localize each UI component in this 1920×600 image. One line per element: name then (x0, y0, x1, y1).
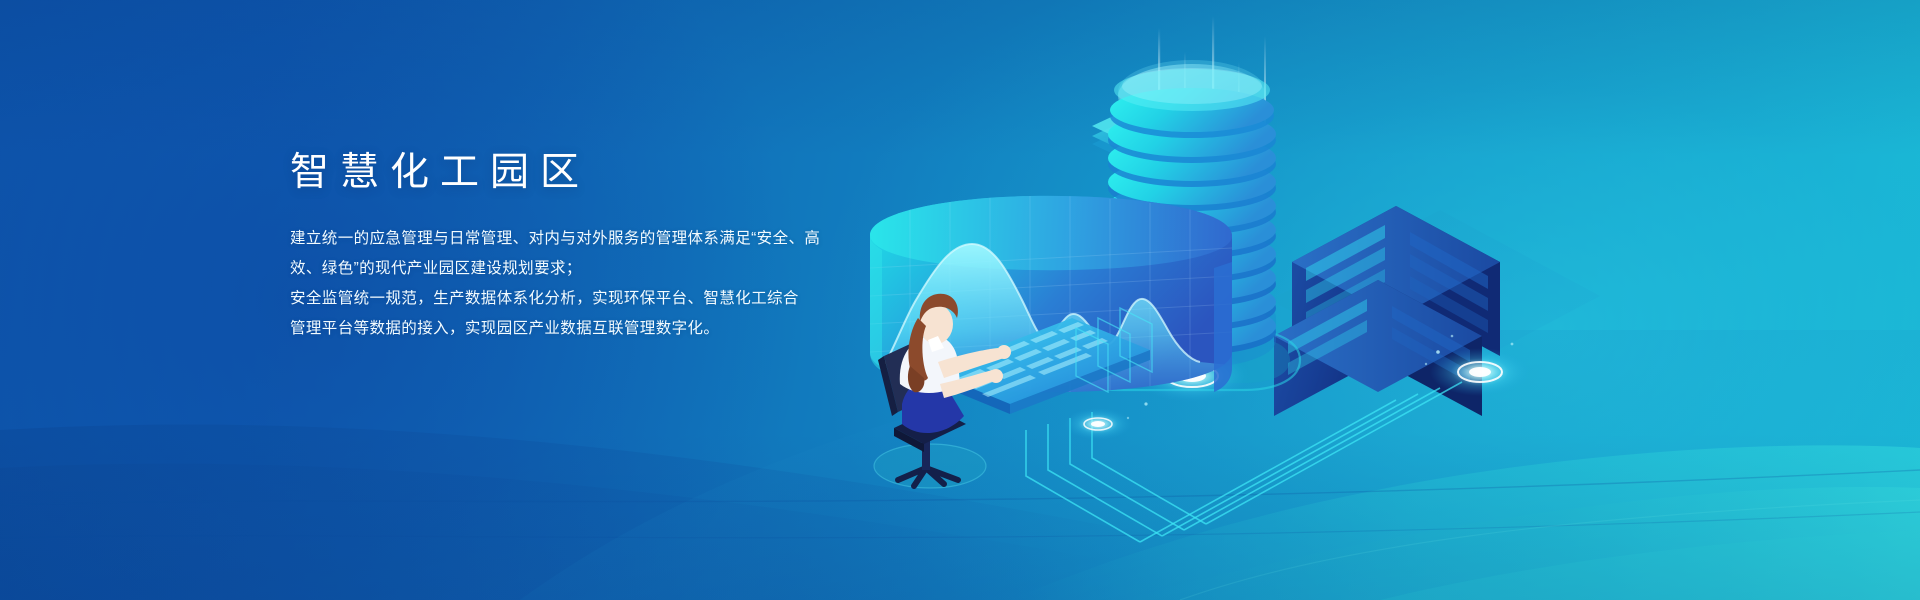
mid-glow-node-icon (1064, 408, 1132, 440)
right-glow-node-icon (1430, 348, 1530, 396)
isometric-scene (840, 0, 1920, 600)
description-line-3: 安全监管统一规范，生产数据体系化分析，实现环保平台、智慧化工综合 (290, 284, 890, 314)
page-title: 智慧化工园区 (290, 150, 890, 196)
hero-banner: 智慧化工园区 建立统一的应急管理与日常管理、对内与对外服务的管理体系满足“安全、… (0, 0, 1920, 600)
hero-copy-block: 智慧化工园区 建立统一的应急管理与日常管理、对内与对外服务的管理体系满足“安全、… (290, 150, 890, 344)
hero-illustration (840, 0, 1920, 600)
description-line-4: 管理平台等数据的接入，实现园区产业数据互联管理数字化。 (290, 314, 890, 344)
neon-connection-lines-icon (1026, 382, 1462, 542)
description-line-1: 建立统一的应急管理与日常管理、对内与对外服务的管理体系满足“安全、高 (290, 224, 890, 254)
server-rack-right (1270, 206, 1600, 416)
hero-description: 建立统一的应急管理与日常管理、对内与对外服务的管理体系满足“安全、高 效、绿色”… (290, 224, 890, 344)
description-line-2: 效、绿色”的现代产业园区建设规划要求； (290, 254, 890, 284)
